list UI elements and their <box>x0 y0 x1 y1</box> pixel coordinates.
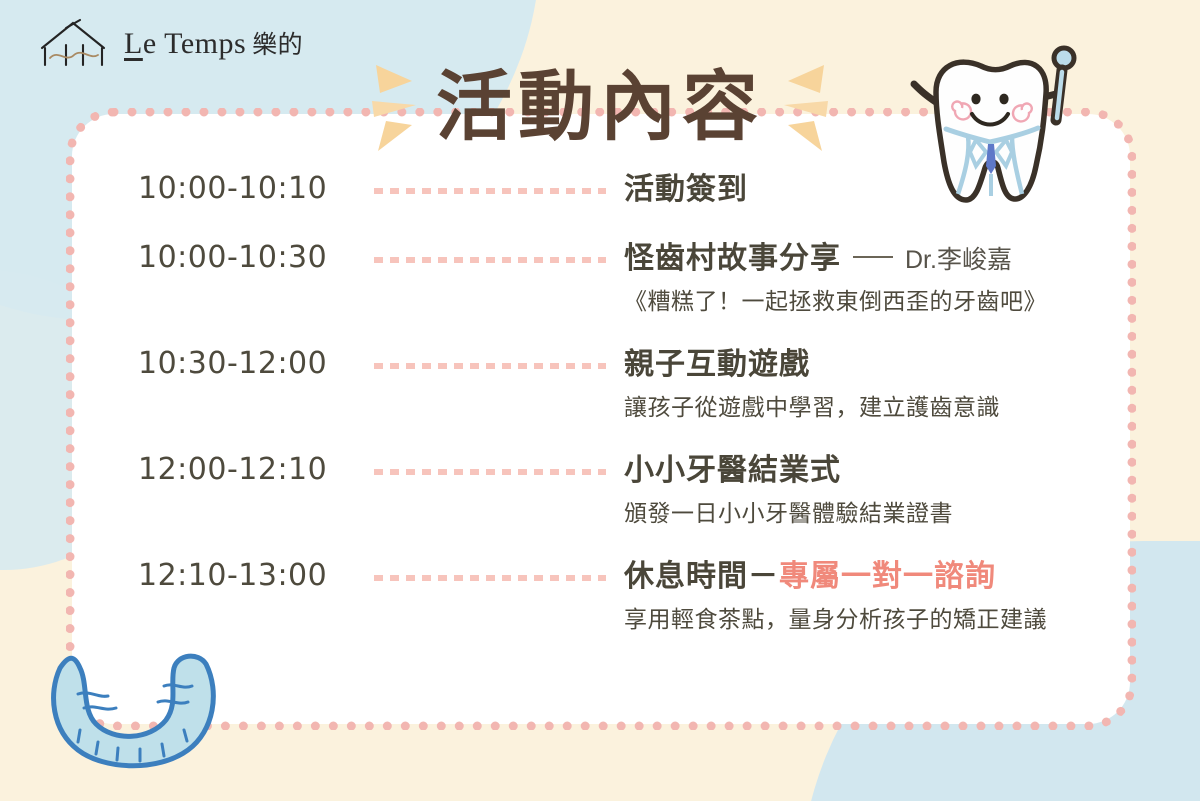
schedule-content: 親子互動遊戲 讓孩子從遊戲中學習，建立護齒意識 <box>606 345 1130 423</box>
schedule-time: 12:00-12:10 <box>72 451 374 489</box>
schedule-subtitle: 頒發一日小小牙醫體驗結業證書 <box>624 498 1130 529</box>
schedule-row[interactable]: 10:00-10:30 怪齒村故事分享Dr.李峻嘉 《糟糕了！一起拯救東倒西歪的… <box>72 239 1130 317</box>
schedule-subtitle: 讓孩子從遊戲中學習，建立護齒意識 <box>624 392 1130 423</box>
schedule-row[interactable]: 10:00-10:10 活動簽到 <box>72 170 1130 209</box>
schedule-title-accent: 專屬一對一諮詢 <box>779 560 996 593</box>
schedule-time: 10:00-10:30 <box>72 239 374 277</box>
schedule-subtitle: 《糟糕了！一起拯救東倒西歪的牙齒吧》 <box>624 286 1130 317</box>
schedule-content: 小小牙醫結業式 頒發一日小小牙醫體驗結業證書 <box>606 451 1130 529</box>
schedule-title: 怪齒村故事分享Dr.李峻嘉 <box>624 239 1130 278</box>
brand-logo[interactable]: Le Temps樂的 <box>36 18 303 68</box>
dental-aligner-icon <box>38 648 238 778</box>
schedule-row[interactable]: 12:10-13:00 休息時間－專屬一對一諮詢 享用輕食茶點，量身分析孩子的矯… <box>72 557 1130 635</box>
schedule-time: 12:10-13:00 <box>72 557 374 595</box>
schedule-title-text: 小小牙醫結業式 <box>624 454 841 487</box>
schedule-dash-connector <box>374 188 606 194</box>
schedule-speaker: Dr.李峻嘉 <box>905 246 1012 274</box>
schedule-content: 休息時間－專屬一對一諮詢 享用輕食茶點，量身分析孩子的矯正建議 <box>606 557 1130 635</box>
schedule-content: 活動簽到 <box>606 170 1130 209</box>
schedule-subtitle: 享用輕食茶點，量身分析孩子的矯正建議 <box>624 604 1130 635</box>
schedule-dash-connector <box>374 575 606 581</box>
schedule-dash-connector <box>374 363 606 369</box>
schedule-title: 小小牙醫結業式 <box>624 451 1130 490</box>
schedule-title-text: 親子互動遊戲 <box>624 348 810 381</box>
schedule-row[interactable]: 12:00-12:10 小小牙醫結業式 頒發一日小小牙醫體驗結業證書 <box>72 451 1130 529</box>
schedule-title: 活動簽到 <box>624 170 1130 209</box>
schedule-dash-connector <box>374 257 606 263</box>
schedule-row[interactable]: 10:30-12:00 親子互動遊戲 讓孩子從遊戲中學習，建立護齒意識 <box>72 345 1130 423</box>
schedule-title-text: 活動簽到 <box>624 173 748 206</box>
brand-name: Le Temps樂的 <box>124 25 303 61</box>
schedule-list: 10:00-10:10 活動簽到 10:00-10:30 怪齒村故事分享Dr.李… <box>72 170 1130 635</box>
em-dash-divider <box>853 256 893 258</box>
schedule-content: 怪齒村故事分享Dr.李峻嘉 《糟糕了！一起拯救東倒西歪的牙齒吧》 <box>606 239 1130 317</box>
schedule-time: 10:30-12:00 <box>72 345 374 383</box>
brand-name-cjk: 樂的 <box>252 32 303 59</box>
schedule-title: 休息時間－專屬一對一諮詢 <box>624 557 1130 596</box>
dental-mirror-icon <box>1054 48 1074 120</box>
schedule-title-text: 怪齒村故事分享 <box>624 242 841 275</box>
schedule-dash-connector <box>374 469 606 475</box>
schedule-title: 親子互動遊戲 <box>624 345 1130 384</box>
schedule-time: 10:00-10:10 <box>72 170 374 208</box>
schedule-title-text: 休息時間－ <box>624 560 779 593</box>
poster-canvas: Le Temps樂的 活動內容 <box>0 0 1200 801</box>
house-arch-logo-icon <box>36 18 110 68</box>
